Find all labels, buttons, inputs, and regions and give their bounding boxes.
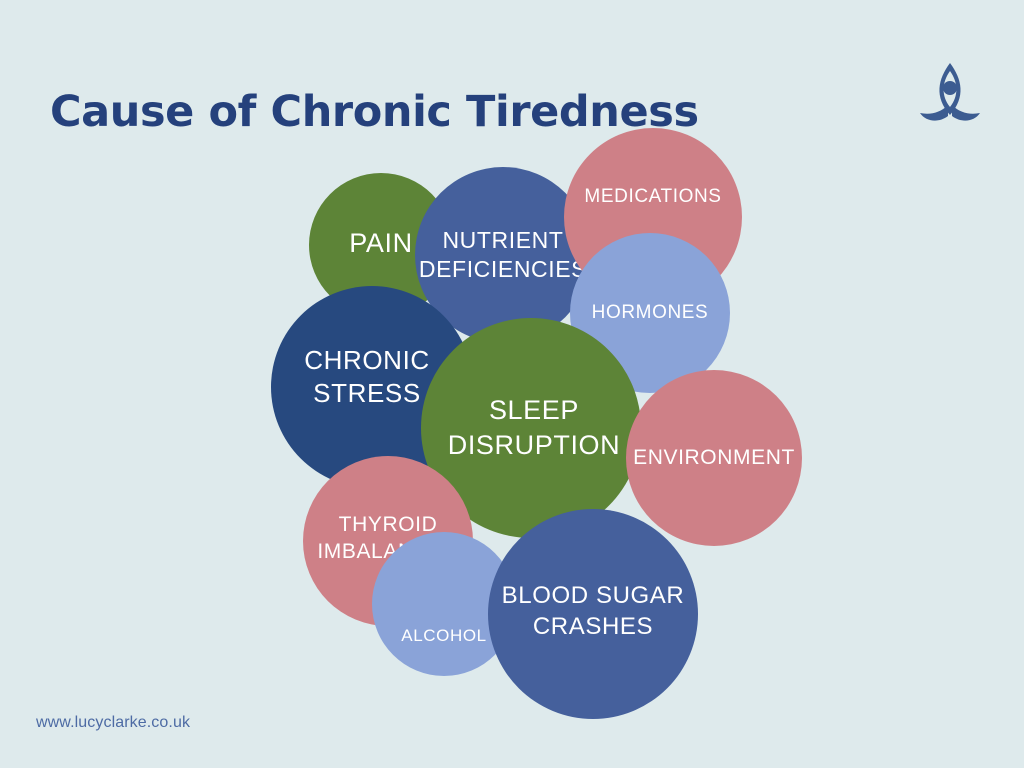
bubble-label-alcohol: ALCOHOL [397,625,490,647]
bubble-label-blood-sugar-crashes: BLOOD SUGAR CRASHES [498,581,689,642]
bubble-label-medications: MEDICATIONS [580,185,725,209]
bubble-label-environment: ENVIRONMENT [629,445,799,472]
footer-website-url[interactable]: www.lucyclarke.co.uk [36,714,190,732]
infographic-poster: Cause of Chronic Tiredness PAINNUTRIENT … [0,0,1024,768]
bubble-cluster: PAINNUTRIENT DEFICIENCIESMEDICATIONSHORM… [0,0,1024,768]
bubble-label-chronic-stress: CHRONIC STRESS [300,344,434,411]
bubble-label-pain: PAIN [345,226,416,261]
bubble-blood-sugar-crashes[interactable]: BLOOD SUGAR CRASHES [488,509,698,719]
bubble-label-sleep-disruption: SLEEP DISRUPTION [444,393,625,462]
bubble-label-nutrient-deficiencies: NUTRIENT DEFICIENCIES [415,226,591,285]
bubble-label-hormones: HORMONES [588,301,713,325]
bubble-environment[interactable]: ENVIRONMENT [626,370,802,546]
